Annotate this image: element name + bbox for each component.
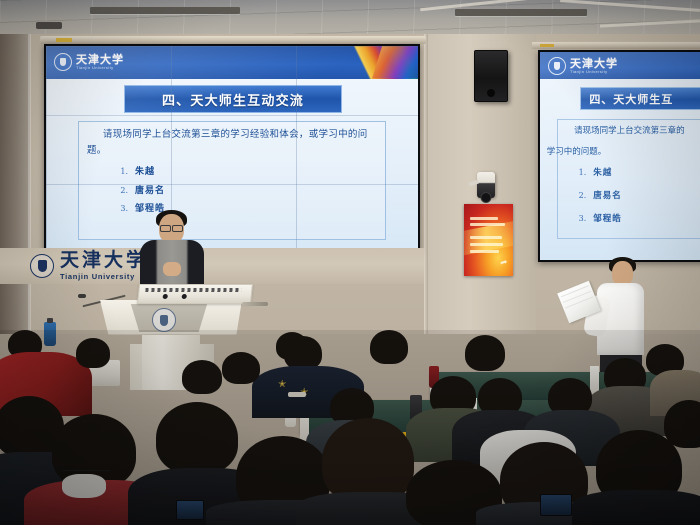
side-slide-paragraph: 请现场同学上台交流第三章的 [560,123,700,139]
slide-title: 四、天大师生互动交流 [162,90,304,109]
audience-shoulders-front [572,490,700,525]
wall-poster: ➦ [464,204,513,276]
list-item-name: 唐易名 [593,189,622,201]
officer-head [284,336,322,370]
lectern-side-handle [242,302,268,306]
camera-lens-icon [481,192,492,203]
ceiling-vent-slot-center [455,9,587,16]
audience-head [222,352,260,384]
poster-text-line [470,217,497,220]
secondary-projection-screen[interactable]: 天津大学 Tianjin University 四、天大师生互 请现场同学上台交… [538,50,700,262]
side-screen-mount-rail [532,42,700,49]
list-item-name: 朱越 [593,166,612,178]
lectern-seal-icon [152,308,176,332]
mobile-phone[interactable] [176,500,204,520]
microphone-head-icon [78,294,86,298]
side-slide: 天津大学 Tianjin University 四、天大师生互 请现场同学上台交… [540,52,700,260]
wall-speaker [474,50,508,102]
university-seal-icon [54,53,72,71]
poster-text-line [470,223,504,226]
list-item: 2. 唐易名 [579,189,622,201]
side-slide-logo-cn: 天津大学 [570,58,618,69]
audience-head [370,330,408,364]
shield-icon [554,62,560,70]
poster-text-line [470,243,502,246]
lecture-hall-photo: 天津大学 Tianjin University 四、天大师生互动交流 请现场同学… [0,0,700,525]
list-item-name: 朱越 [135,168,155,177]
wall-brand-lockup: 天津大学 Tianjin University [30,251,148,281]
university-seal-icon [548,57,566,75]
side-slide-title-band: 四、天大师生互 [580,87,700,110]
university-seal-icon [30,254,54,278]
poster-text-line [470,236,501,239]
audience-head [182,360,222,394]
lectern-control-surface[interactable] [137,284,253,304]
list-item-name: 邹程皓 [593,212,622,224]
ceiling-vent-slot-left [90,7,240,14]
side-slide-university-logo: 天津大学 Tianjin University [548,57,618,75]
face-mask [62,474,106,498]
slide-header-bar: 天津大学 Tianjin University [46,46,418,79]
lectern-control-keys[interactable] [145,288,241,292]
slide-logo-en: Tianjin University [76,66,124,70]
shield-icon [160,315,168,326]
lectern [90,286,250,348]
side-rail-label-tag [540,44,554,47]
presenter-glasses-icon [160,225,183,230]
left-column-highlight [28,34,31,334]
side-slide-student-list: 1. 朱越 2. 唐易名 3. 邹程皓 [579,166,622,235]
list-item: 3. 邹程皓 [579,212,622,224]
wall-brand-en: Tianjin University [60,272,148,281]
list-item: 2. 唐易名 [120,187,165,196]
audience-head [465,335,505,371]
list-item-number: 1. [120,168,128,176]
list-item-number: 1. [579,168,587,177]
lectern-knob[interactable] [162,294,168,299]
list-item: 1. 朱越 [579,166,622,178]
list-item-name: 唐易名 [135,187,165,196]
header-ribbon-graphic [326,46,418,79]
glasses-icon [62,470,110,475]
officer-badge [288,392,306,397]
ceiling-speaker [36,22,62,29]
audience-head [76,338,110,368]
lectern-knob[interactable] [181,294,187,299]
poster-text-line [470,250,498,253]
slide-paragraph: 请现场同学上台交流第三章的学习经验和体会，或学习中的问题。 [87,127,381,160]
main-slide: 天津大学 Tianjin University 四、天大师生互动交流 请现场同学… [46,46,418,250]
presenter-hands [163,262,181,276]
slide-logo-cn: 天津大学 [76,54,124,65]
shield-icon [38,260,47,272]
side-slide-logo-en: Tianjin University [570,70,618,74]
wall-brand-cn: 天津大学 [60,251,148,270]
list-item: 1. 朱越 [120,168,165,177]
lectern-knobs[interactable] [162,294,187,299]
water-bottle-podium [44,322,56,346]
list-item-number: 3. [120,205,128,213]
main-screen-mount-rail [40,36,426,44]
wall-branding-band: 天津大学 Tianjin University [0,248,424,284]
list-item-number: 2. [579,191,587,200]
list-item-number: 3. [579,214,587,223]
epaulette-star-icon: ✭ [278,380,286,390]
rail-label-tag [56,38,72,42]
main-projection-screen[interactable]: 天津大学 Tianjin University 四、天大师生互动交流 请现场同学… [44,44,420,252]
audience-head-front [156,402,238,474]
poster-bird-icon: ➦ [499,256,509,268]
left-wall-column [0,34,30,334]
slide-title-band: 四、天大师生互动交流 [124,85,342,114]
side-slide-paragraph-line2: 学习中的问题。 [547,144,700,160]
slide-university-logo: 天津大学 Tianjin University [54,53,124,71]
side-slide-header-bar: 天津大学 Tianjin University [540,52,700,79]
list-item-number: 2. [120,187,128,195]
wall-camera [477,172,495,198]
audience-head-front [664,400,700,448]
mobile-phone[interactable] [540,494,572,516]
side-slide-title: 四、天大师生互 [589,91,673,107]
center-pillar-edge [424,34,428,334]
shield-icon [60,58,66,66]
